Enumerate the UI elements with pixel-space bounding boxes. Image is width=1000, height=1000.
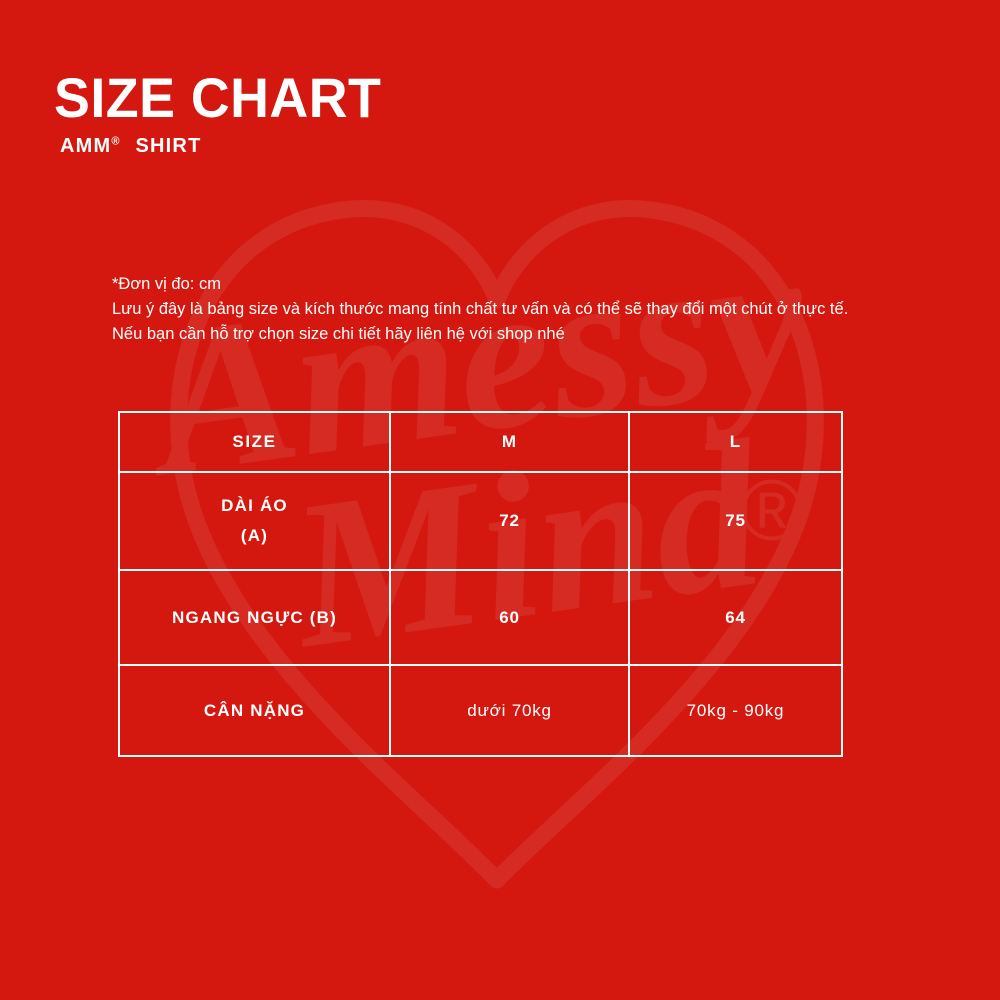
registered-trademark-icon: ®	[111, 135, 119, 147]
note-unit-line: *Đơn vị đo: cm	[112, 272, 872, 297]
header-cell-size: SIZE	[119, 412, 390, 472]
table-row: DÀI ÁO (A) 72 75	[119, 472, 842, 570]
cell-ngang-nguc-l: 64	[629, 570, 842, 665]
header-cell-l: L	[629, 412, 842, 472]
brand-product-line: AMM®SHIRT	[60, 136, 201, 156]
row-label-can-nang: CÂN NẶNG	[119, 665, 390, 756]
page-title: SIZE CHART	[54, 70, 381, 126]
row-label-dai-ao: DÀI ÁO (A)	[119, 472, 390, 570]
brand-name: AMM	[60, 135, 111, 157]
size-chart-table: SIZE M L DÀI ÁO (A) 72 75 NGANG NGỰC (B)…	[118, 411, 843, 757]
cell-dai-ao-l: 75	[629, 472, 842, 570]
cell-can-nang-m: dưới 70kg	[390, 665, 629, 756]
cell-can-nang-l: 70kg - 90kg	[629, 665, 842, 756]
note-block: *Đơn vị đo: cm Lưu ý đây là bảng size và…	[112, 272, 872, 347]
table-header-row: SIZE M L	[119, 412, 842, 472]
row-label-ngang-nguc: NGANG NGỰC (B)	[119, 570, 390, 665]
table-row: NGANG NGỰC (B) 60 64	[119, 570, 842, 665]
note-disclaimer: Lưu ý đây là bảng size và kích thước man…	[112, 297, 872, 347]
product-name: SHIRT	[135, 135, 201, 157]
cell-ngang-nguc-m: 60	[390, 570, 629, 665]
cell-dai-ao-m: 72	[390, 472, 629, 570]
row-label-line-2: (A)	[120, 521, 389, 551]
row-label-line-1: DÀI ÁO	[120, 491, 389, 521]
header-cell-m: M	[390, 412, 629, 472]
table-row: CÂN NẶNG dưới 70kg 70kg - 90kg	[119, 665, 842, 756]
